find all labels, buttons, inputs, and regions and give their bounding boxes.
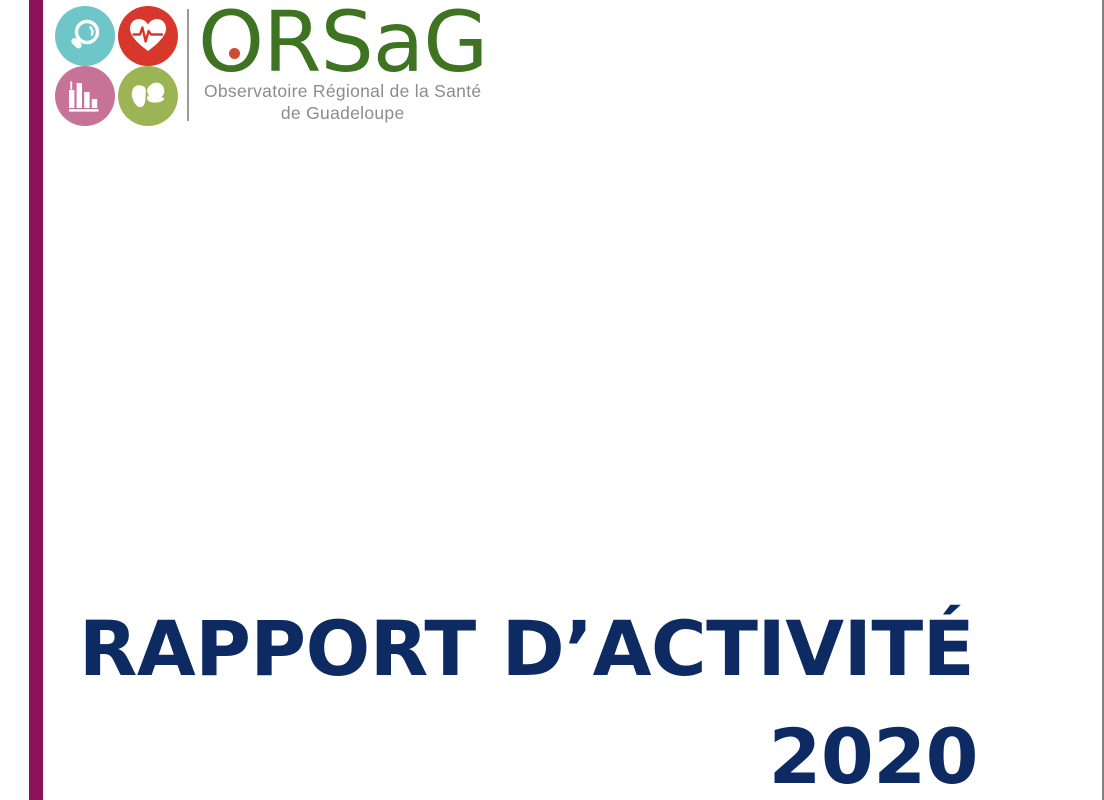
heart-ekg-icon <box>118 6 178 66</box>
tagline-line-2: de Guadeloupe <box>204 103 481 124</box>
page-title: RAPPORT D’ACTIVITÉ <box>60 595 993 703</box>
cover-title-block: RAPPORT D’ACTIVITÉ 2020 <box>60 595 993 800</box>
left-accent-bar <box>29 0 43 800</box>
orsag-logo: ORSaG Observatoire Régional de la Santé … <box>55 6 487 126</box>
document-cover-page: ORSaG Observatoire Régional de la Santé … <box>0 0 1104 800</box>
bar-chart-icon <box>55 66 115 126</box>
page-title-year: 2020 <box>60 703 993 800</box>
logo-divider <box>187 9 189 121</box>
wordmark-dot-icon <box>229 48 240 59</box>
guadeloupe-map-icon <box>118 66 178 126</box>
wordmark-text: ORSaG <box>198 0 487 91</box>
logo-icon-grid <box>55 6 181 126</box>
logo-wordmark-block: ORSaG Observatoire Régional de la Santé … <box>198 6 487 124</box>
magnifier-icon <box>55 6 115 66</box>
wordmark: ORSaG <box>198 6 487 78</box>
